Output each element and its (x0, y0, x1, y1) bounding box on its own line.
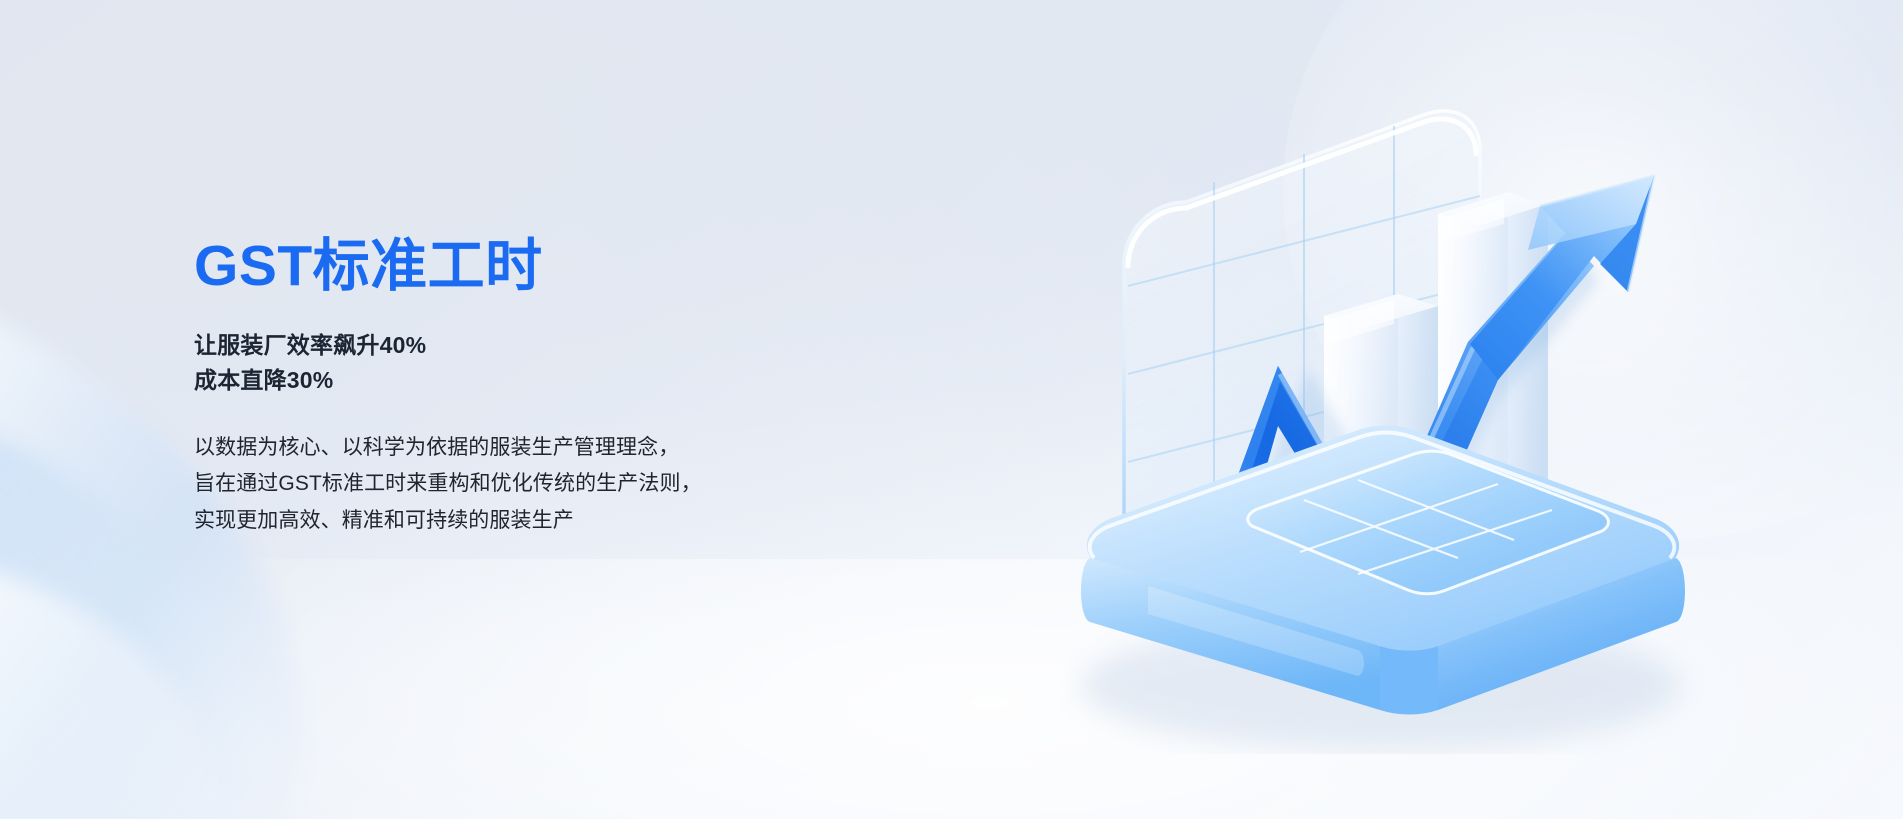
description-line-3: 实现更加高效、精准和可持续的服装生产 (194, 503, 914, 539)
description-line-1: 以数据为核心、以科学为依据的服装生产管理理念， (194, 430, 914, 466)
subtitle-line-2: 成本直降30% (194, 363, 914, 398)
page-title: GST标准工时 (194, 236, 914, 296)
hero-description: 以数据为核心、以科学为依据的服装生产管理理念， 旨在通过GST标准工时来重构和优… (194, 430, 914, 538)
hero-copy-block: GST标准工时 让服装厂效率飙升40% 成本直降30% 以数据为核心、以科学为依… (194, 236, 914, 539)
growth-chart-illustration (1028, 74, 1708, 754)
subtitle-line-1: 让服装厂效率飙升40% (194, 328, 914, 363)
description-line-2: 旨在通过GST标准工时来重构和优化传统的生产法则， (194, 466, 914, 502)
growth-chart-svg (1028, 74, 1708, 754)
hero-subtitle: 让服装厂效率飙升40% 成本直降30% (194, 328, 914, 398)
hero-banner: GST标准工时 让服装厂效率飙升40% 成本直降30% 以数据为核心、以科学为依… (0, 0, 1903, 819)
